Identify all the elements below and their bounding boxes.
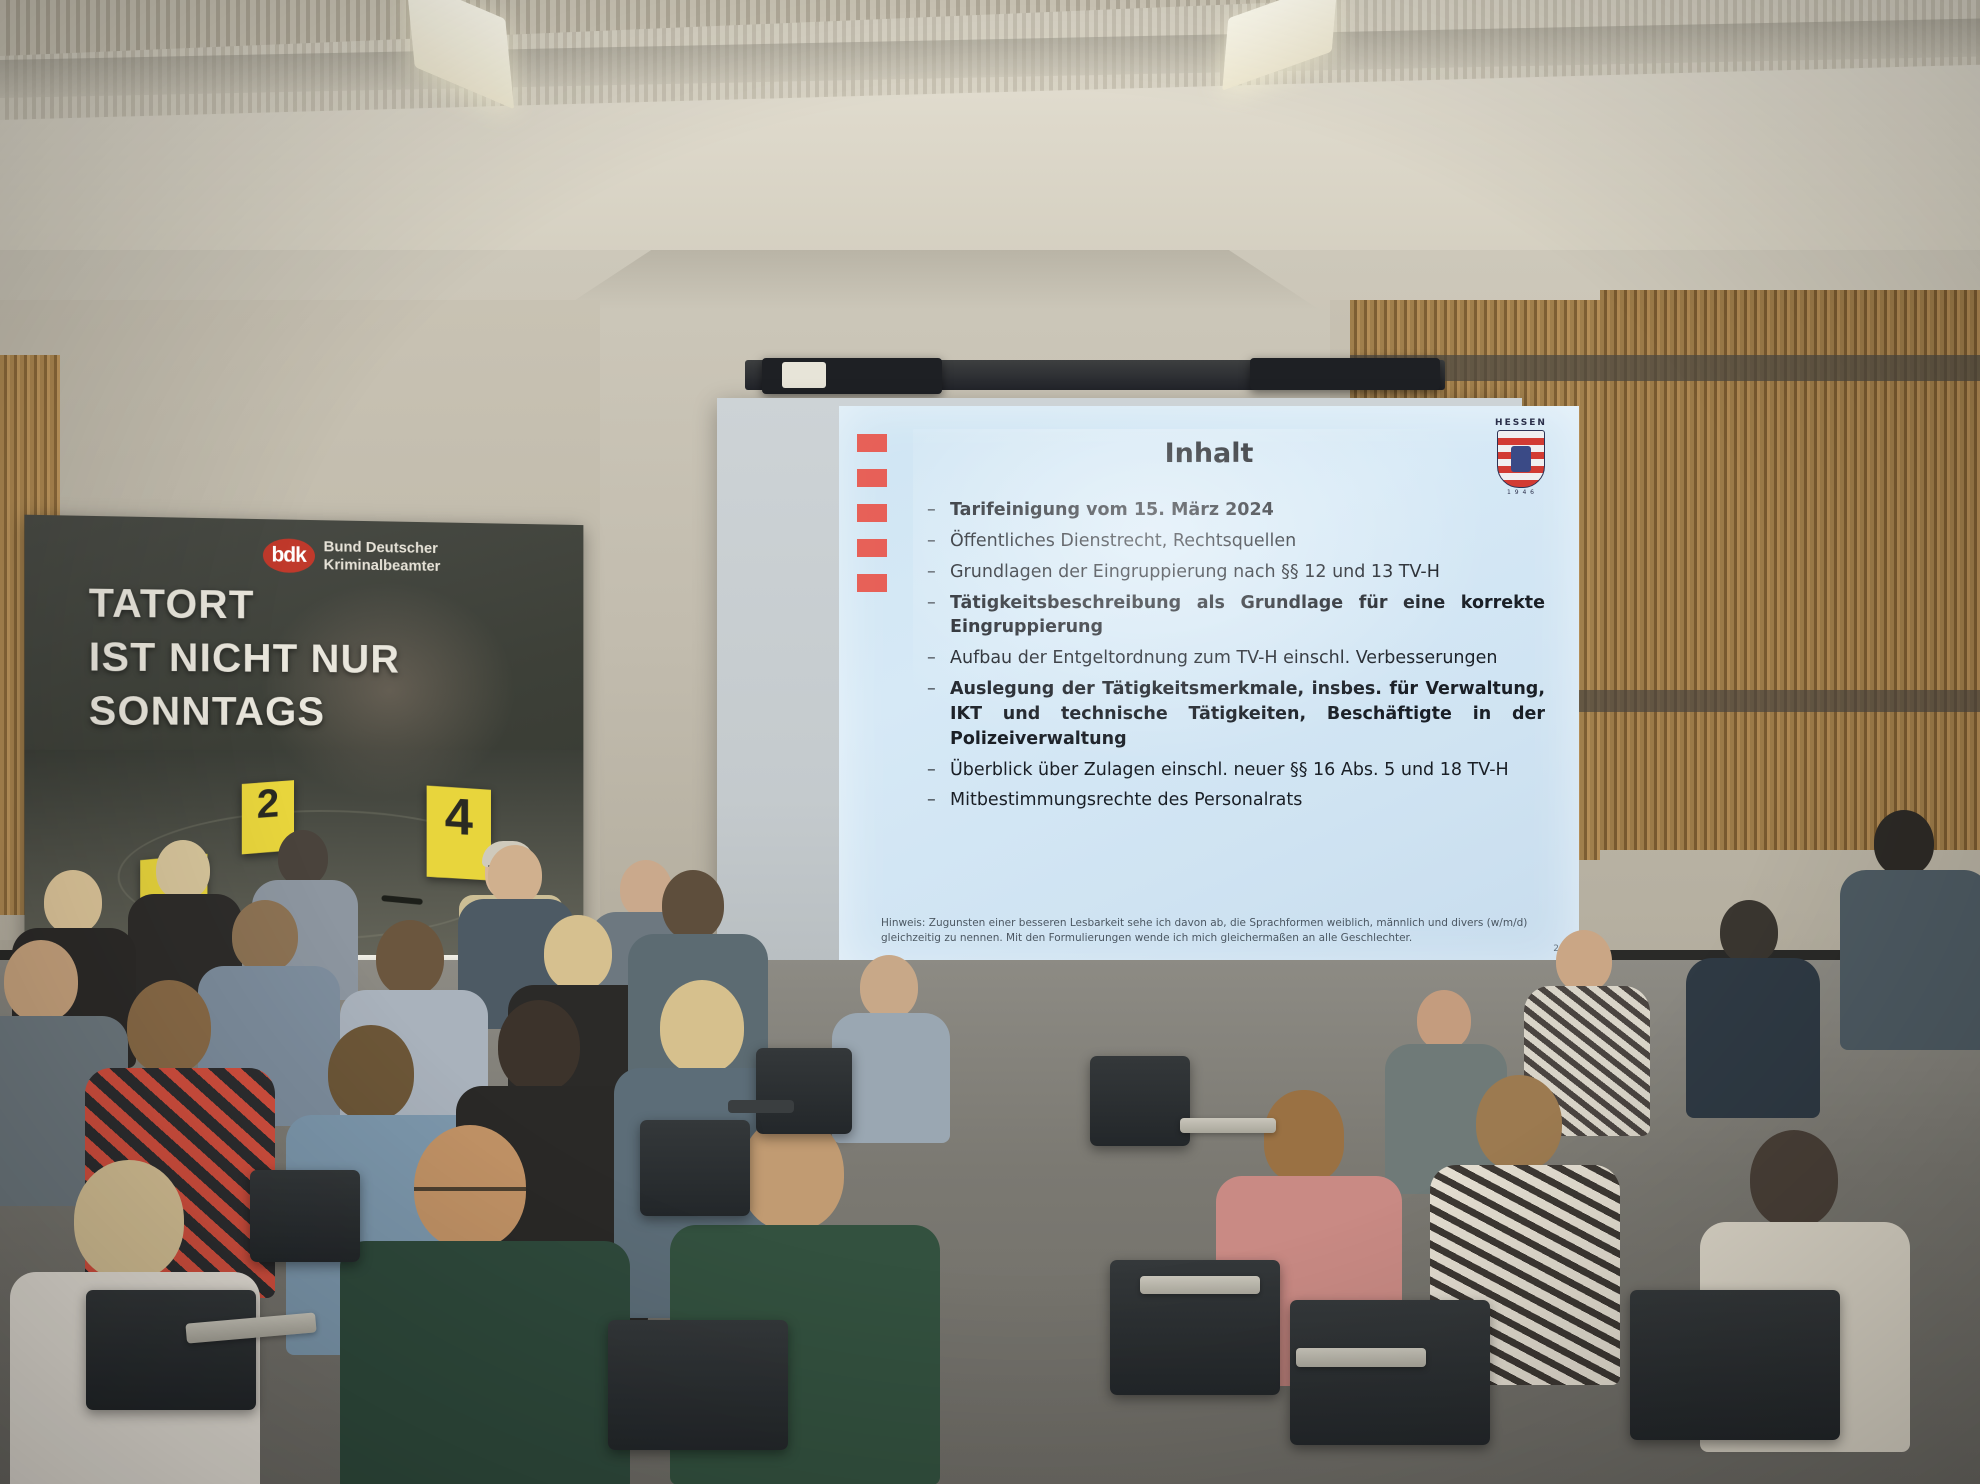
bullet-text: Mitbestimmungsrechte des Personalrats <box>950 788 1545 813</box>
hessen-logo-subtext: 1 9 4 6 <box>1491 489 1551 496</box>
chair-tablet-arm[interactable] <box>1180 1118 1276 1133</box>
audience-head <box>376 920 444 996</box>
wall-soffit <box>560 250 1320 310</box>
audience-head <box>1750 1130 1838 1228</box>
banner-slogan-line-2: IST NICHT NUR <box>89 631 400 687</box>
audience-head <box>127 980 211 1074</box>
slide-accent-mark <box>857 469 887 487</box>
bullet-text: Tätigkeitsbeschreibung als Grundlage für… <box>950 591 1545 641</box>
bdk-logo-icon: bdk <box>263 538 315 573</box>
lecture-chair[interactable] <box>1090 1056 1190 1146</box>
bullet-dash-icon: – <box>927 591 939 641</box>
audience-head <box>660 980 744 1074</box>
audience-head <box>278 830 328 886</box>
audience-head <box>328 1025 414 1121</box>
ceiling-speaker-box <box>1250 358 1440 390</box>
audience-body <box>1840 870 1980 1050</box>
audience-head <box>1264 1090 1344 1182</box>
audience-head <box>1874 810 1934 876</box>
bdk-logo: bdk Bund Deutscher Kriminalbeamter <box>263 537 441 575</box>
audience-area <box>0 960 1980 1484</box>
slide-accent-mark <box>857 574 887 592</box>
presentation-slide: HESSEN 1 9 4 6 Inhalt – Tarifeinigung vo… <box>839 406 1579 976</box>
lecture-chair[interactable] <box>1630 1290 1840 1440</box>
lecture-chair[interactable] <box>608 1320 788 1450</box>
banner-slogan-line-3: SONNTAGS <box>89 684 400 738</box>
slide-accent-mark <box>857 539 887 557</box>
chair-tablet-arm[interactable] <box>1140 1276 1260 1294</box>
slide-title: Inhalt <box>839 438 1579 469</box>
slide-bullet-item: – Aufbau der Entgeltordnung zum TV-H ein… <box>927 646 1545 671</box>
lecture-chair[interactable] <box>756 1048 852 1134</box>
audience-head <box>488 845 542 905</box>
bullet-dash-icon: – <box>927 498 939 523</box>
audience-head <box>44 870 102 934</box>
lecture-chair[interactable] <box>1290 1300 1490 1445</box>
banner-slogan: TATORT IST NICHT NUR SONNTAGS <box>89 577 400 739</box>
slide-bullet-item: – Öffentliches Dienstrecht, Rechtsquelle… <box>927 529 1545 554</box>
audience-head <box>544 915 612 991</box>
glasses-icon <box>414 1187 526 1201</box>
slide-accent-mark <box>857 504 887 522</box>
bdk-org-name: Bund Deutscher Kriminalbeamter <box>324 538 441 575</box>
chair-armrest[interactable] <box>728 1100 794 1113</box>
audience-head <box>232 900 298 972</box>
audience-head <box>156 840 210 900</box>
lecture-hall-scene: TATORT IST NICHT NUR SONNTAGS bdk Bund D… <box>0 0 1980 1484</box>
lecture-chair[interactable] <box>640 1120 750 1216</box>
bullet-dash-icon: – <box>927 677 939 752</box>
slide-bullet-item: – Tarifeinigung vom 15. März 2024 <box>927 498 1545 523</box>
banner-slogan-line-1: TATORT <box>89 577 400 634</box>
slide-footnote: Hinweis: Zugunsten einer besseren Lesbar… <box>881 916 1531 946</box>
bullet-dash-icon: – <box>927 529 939 554</box>
slide-bullet-list: – Tarifeinigung vom 15. März 2024 – Öffe… <box>927 498 1545 819</box>
audience-head <box>1720 900 1778 964</box>
audience-head <box>74 1160 184 1280</box>
bullet-text: Öffentliches Dienstrecht, Rechtsquellen <box>950 529 1545 554</box>
audience-head <box>498 1000 580 1092</box>
lecture-chair[interactable] <box>86 1290 256 1410</box>
slide-bullet-item: – Tätigkeitsbeschreibung als Grundlage f… <box>927 591 1545 641</box>
audience-head <box>4 940 78 1022</box>
chair-tablet-arm[interactable] <box>1296 1348 1426 1367</box>
hessen-logo-wordmark: HESSEN <box>1491 418 1551 428</box>
bdk-org-line-2: Kriminalbeamter <box>324 556 441 575</box>
projector-lens-icon <box>782 362 826 388</box>
bullet-text: Grundlagen der Eingruppierung nach §§ 12… <box>950 560 1545 585</box>
slide-bullet-item: – Überblick über Zulagen einschl. neuer … <box>927 758 1545 783</box>
bullet-text: Tarifeinigung vom 15. März 2024 <box>950 498 1545 523</box>
bullet-dash-icon: – <box>927 758 939 783</box>
audience-body <box>340 1241 630 1484</box>
audience-head <box>662 870 724 940</box>
audience-head <box>1556 930 1612 992</box>
audience-head <box>1417 990 1471 1050</box>
lecture-chair[interactable] <box>250 1170 360 1262</box>
audience-head <box>1476 1075 1562 1171</box>
bdk-org-line-1: Bund Deutscher <box>324 538 441 558</box>
slide-bullet-item: – Grundlagen der Eingruppierung nach §§ … <box>927 560 1545 585</box>
bullet-text: Überblick über Zulagen einschl. neuer §§… <box>950 758 1545 783</box>
bullet-dash-icon: – <box>927 560 939 585</box>
bullet-text: Aufbau der Entgeltordnung zum TV-H einsc… <box>950 646 1545 671</box>
slide-bullet-item: – Auslegung der Tätigkeitsmerkmale, insb… <box>927 677 1545 752</box>
bullet-dash-icon: – <box>927 788 939 813</box>
slide-bullet-item: – Mitbestimmungsrechte des Personalrats <box>927 788 1545 813</box>
audience-body <box>1686 958 1820 1118</box>
audience-head <box>860 955 918 1019</box>
bullet-text: Auslegung der Tätigkeitsmerkmale, insbes… <box>950 677 1545 752</box>
bullet-dash-icon: – <box>927 646 939 671</box>
